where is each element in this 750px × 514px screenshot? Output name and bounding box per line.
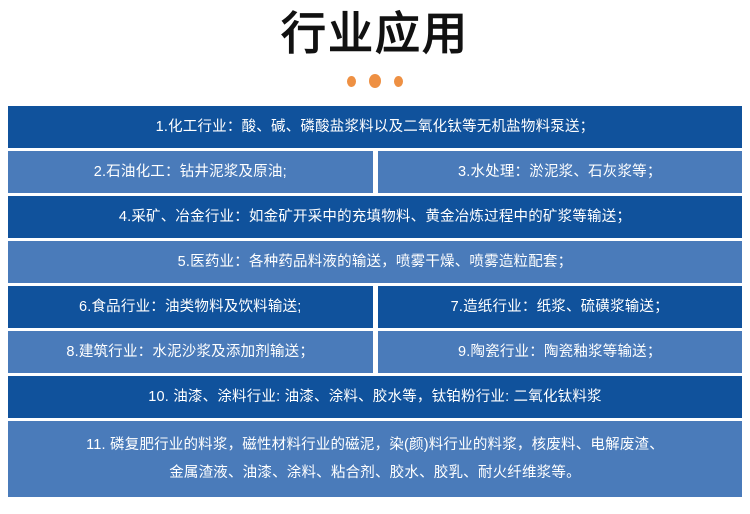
application-row: 2.石油化工：钻井泥浆及原油; 3.水处理：淤泥浆、石灰浆等； [8,151,742,193]
application-row: 1.化工行业：酸、碱、磷酸盐浆料以及二氧化钛等无机盐物料泵送； [8,106,742,148]
application-item-1: 1.化工行业：酸、碱、磷酸盐浆料以及二氧化钛等无机盐物料泵送； [8,106,742,148]
dot-small-left-icon [347,76,356,87]
application-item-8: 8.建筑行业：水泥沙浆及添加剂输送； [8,331,373,373]
industry-applications-page: 行业应用 1.化工行业：酸、碱、磷酸盐浆料以及二氧化钛等无机盐物料泵送； 2.石… [0,0,750,514]
application-item-3: 3.水处理：淤泥浆、石灰浆等； [378,151,743,193]
application-item-5: 5.医药业：各种药品料液的输送，喷雾干燥、喷雾造粒配套； [8,241,742,283]
dot-small-right-icon [394,76,403,87]
application-row: 10. 油漆、涂料行业: 油漆、涂料、胶水等，钛铂粉行业: 二氧化钛料浆 [8,376,742,418]
application-row: 11. 磷复肥行业的料浆，磁性材料行业的磁泥，染(颜)料行业的料浆，核废料、电解… [8,421,742,497]
application-row: 4.采矿、冶金行业：如金矿开采中的充填物料、黄金冶炼过程中的矿浆等输送； [8,196,742,238]
application-item-2: 2.石油化工：钻井泥浆及原油; [8,151,373,193]
decorative-dots [0,74,750,88]
application-item-7: 7.造纸行业：纸浆、硫磺浆输送； [378,286,743,328]
application-item-4: 4.采矿、冶金行业：如金矿开采中的充填物料、黄金冶炼过程中的矿浆等输送； [8,196,742,238]
application-item-10: 10. 油漆、涂料行业: 油漆、涂料、胶水等，钛铂粉行业: 二氧化钛料浆 [8,376,742,418]
application-list: 1.化工行业：酸、碱、磷酸盐浆料以及二氧化钛等无机盐物料泵送； 2.石油化工：钻… [0,106,750,497]
application-item-11-line-2: 金属渣液、油漆、涂料、粘合剂、胶水、胶乳、耐火纤维浆等。 [169,459,581,487]
page-header: 行业应用 [0,0,750,88]
application-item-11: 11. 磷复肥行业的料浆，磁性材料行业的磁泥，染(颜)料行业的料浆，核废料、电解… [8,421,742,497]
application-item-11-line-1: 11. 磷复肥行业的料浆，磁性材料行业的磁泥，染(颜)料行业的料浆，核废料、电解… [86,431,664,459]
page-title: 行业应用 [0,6,750,62]
application-item-6: 6.食品行业：油类物料及饮料输送; [8,286,373,328]
application-item-9: 9.陶瓷行业：陶瓷釉浆等输送； [378,331,743,373]
dot-big-center-icon [369,74,381,88]
application-row: 6.食品行业：油类物料及饮料输送; 7.造纸行业：纸浆、硫磺浆输送； [8,286,742,328]
application-row: 5.医药业：各种药品料液的输送，喷雾干燥、喷雾造粒配套； [8,241,742,283]
application-row: 8.建筑行业：水泥沙浆及添加剂输送； 9.陶瓷行业：陶瓷釉浆等输送； [8,331,742,373]
